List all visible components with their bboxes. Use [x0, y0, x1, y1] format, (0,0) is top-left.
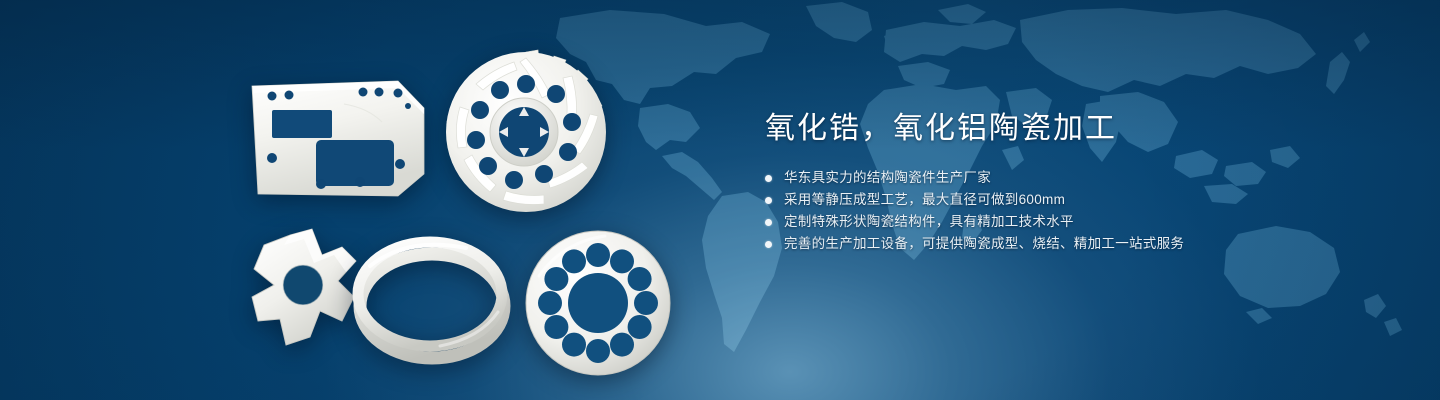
list-item: 采用等静压成型工艺，最大直径可做到600mm	[765, 189, 1365, 211]
ceramic-rings	[348, 226, 520, 366]
feature-list: 华东具实力的结构陶瓷件生产厂家 采用等静压成型工艺，最大直径可做到600mm 定…	[765, 167, 1365, 255]
list-item: 完善的生产加工设备，可提供陶瓷成型、烧结、精加工一站式服务	[765, 233, 1365, 255]
bullet-dot-icon	[765, 219, 772, 226]
ceramic-plate	[248, 78, 428, 200]
hero-banner: 氧化锆，氧化铝陶瓷加工 华东具实力的结构陶瓷件生产厂家 采用等静压成型工艺，最大…	[0, 0, 1440, 400]
ceramic-impeller	[444, 48, 608, 216]
feature-text: 完善的生产加工设备，可提供陶瓷成型、烧结、精加工一站式服务	[784, 233, 1184, 255]
feature-text: 华东具实力的结构陶瓷件生产厂家	[784, 167, 991, 189]
product-photo-cluster	[0, 0, 740, 400]
banner-headline: 氧化锆，氧化铝陶瓷加工	[765, 110, 1365, 148]
bullet-dot-icon	[765, 241, 772, 248]
list-item: 华东具实力的结构陶瓷件生产厂家	[765, 167, 1365, 189]
ceramic-disc	[523, 228, 673, 378]
bullet-dot-icon	[765, 197, 772, 204]
feature-text: 定制特殊形状陶瓷结构件，具有精加工技术水平	[784, 211, 1074, 233]
bullet-dot-icon	[765, 175, 772, 182]
list-item: 定制特殊形状陶瓷结构件，具有精加工技术水平	[765, 211, 1365, 233]
banner-copy: 氧化锆，氧化铝陶瓷加工 华东具实力的结构陶瓷件生产厂家 采用等静压成型工艺，最大…	[765, 110, 1365, 255]
feature-text: 采用等静压成型工艺，最大直径可做到600mm	[784, 189, 1065, 211]
